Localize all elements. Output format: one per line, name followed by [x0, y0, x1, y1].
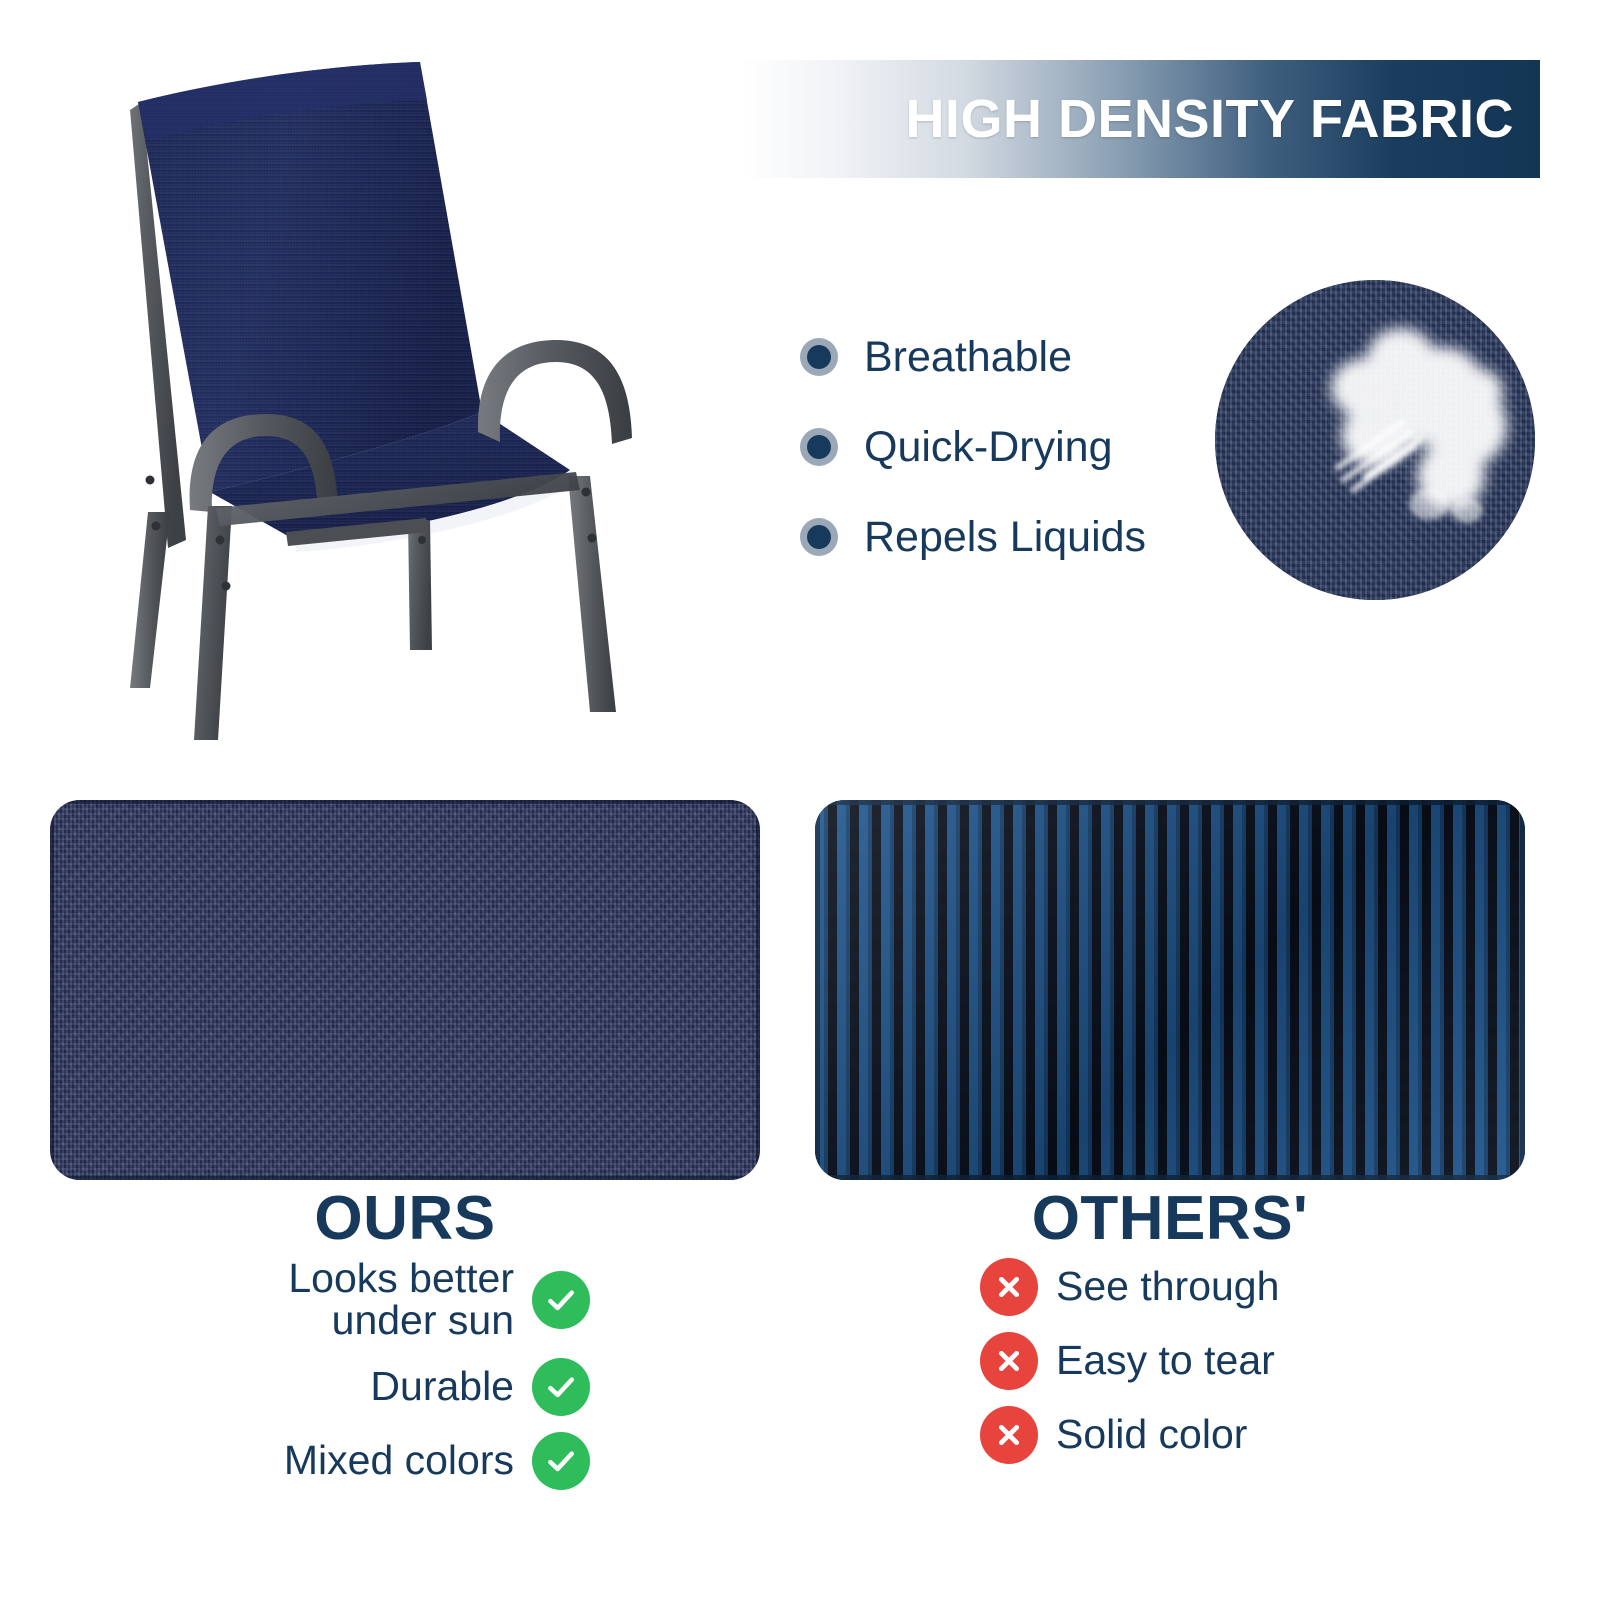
ours-item-mixed-colors: Mixed colors [50, 1432, 590, 1490]
cross-icon [980, 1406, 1038, 1464]
others-item-see-through: See through [980, 1258, 1520, 1316]
check-icon [532, 1358, 590, 1416]
feature-item-breathable: Breathable [800, 312, 1200, 402]
ours-item-durable: Durable [50, 1358, 590, 1416]
chair-leg-rear-left [130, 512, 170, 688]
others-item-easy-to-tear: Easy to tear [980, 1332, 1520, 1390]
ours-benefit-list: Looks better under sun Durable Mixed col… [50, 1258, 590, 1506]
filled-circle-bullet-icon [800, 338, 838, 376]
infographic-page: HIGH DENSITY FABRIC [0, 0, 1600, 1600]
drawback-label: Easy to tear [1056, 1340, 1275, 1382]
page-title: HIGH DENSITY FABRIC [905, 92, 1514, 146]
ours-item-looks-better: Looks better under sun [50, 1258, 590, 1342]
benefit-label: Mixed colors [284, 1440, 514, 1482]
benefit-label: Looks better under sun [288, 1258, 514, 1342]
feature-label: Repels Liquids [864, 516, 1146, 559]
others-fabric-swatch [815, 800, 1525, 1180]
check-icon [532, 1432, 590, 1490]
cross-icon [980, 1332, 1038, 1390]
feature-list: Breathable Quick-Drying Repels Liquids [800, 312, 1200, 582]
product-chair-image [90, 40, 710, 780]
cross-icon [980, 1258, 1038, 1316]
steam-vapor-icon [1215, 280, 1535, 600]
benefit-label: Durable [370, 1366, 514, 1408]
drawback-label: Solid color [1056, 1414, 1247, 1456]
feature-item-quick-drying: Quick-Drying [800, 402, 1200, 492]
ours-fabric-swatch [50, 800, 760, 1180]
header-banner: HIGH DENSITY FABRIC [740, 60, 1540, 178]
feature-label: Breathable [864, 336, 1072, 379]
drawback-label: See through [1056, 1266, 1279, 1308]
check-icon [532, 1271, 590, 1329]
mesh-shading-overlay [815, 800, 1525, 1180]
feature-label: Quick-Drying [864, 426, 1113, 469]
chair-leg-front-left [194, 506, 232, 740]
chair-leg-front-right [568, 476, 616, 712]
chair-illustration [90, 40, 710, 780]
dense-weave-texture [50, 800, 760, 1180]
others-drawback-list: See through Easy to tear Solid color [980, 1258, 1520, 1480]
filled-circle-bullet-icon [800, 428, 838, 466]
others-heading: OTHERS' [815, 1186, 1525, 1251]
feature-item-repels-liquids: Repels Liquids [800, 492, 1200, 582]
ours-heading: OURS [50, 1186, 760, 1251]
fabric-detail-circle [1215, 280, 1535, 600]
others-item-solid-color: Solid color [980, 1406, 1520, 1464]
filled-circle-bullet-icon [800, 518, 838, 556]
